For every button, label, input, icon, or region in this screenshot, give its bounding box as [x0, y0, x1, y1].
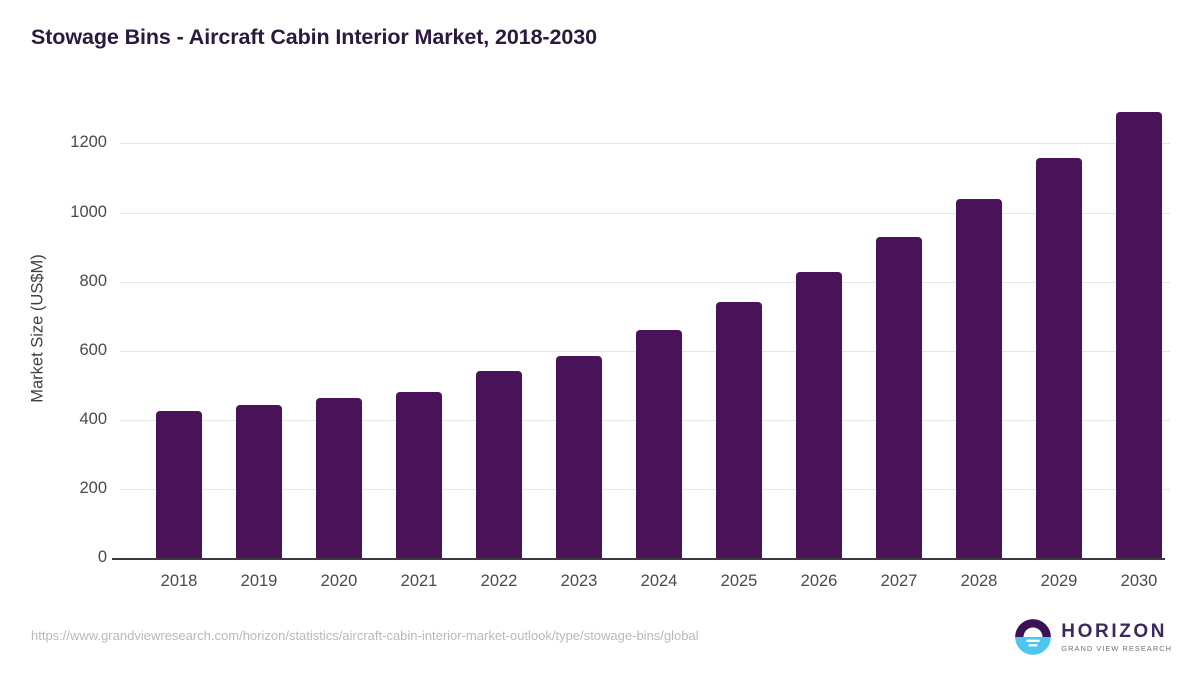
x-tick-label: 2022	[459, 572, 539, 591]
bar[interactable]	[316, 398, 362, 558]
page-title: Stowage Bins - Aircraft Cabin Interior M…	[31, 25, 597, 50]
y-tick-label: 400	[0, 410, 107, 429]
y-tick-label: 200	[0, 479, 107, 498]
x-tick-label: 2028	[939, 572, 1019, 591]
bar[interactable]	[156, 411, 202, 558]
x-tick-label: 2021	[379, 572, 459, 591]
logo-subtitle: GRAND VIEW RESEARCH	[1061, 645, 1172, 652]
bar[interactable]	[716, 302, 762, 558]
x-tick-label: 2020	[299, 572, 379, 591]
x-tick-label: 2025	[699, 572, 779, 591]
bar[interactable]	[476, 371, 522, 558]
logo-text: HORIZON GRAND VIEW RESEARCH	[1061, 622, 1172, 652]
x-tick-label: 2027	[859, 572, 939, 591]
x-tick-label: 2023	[539, 572, 619, 591]
bar[interactable]	[1116, 112, 1162, 558]
chart-page: Stowage Bins - Aircraft Cabin Interior M…	[0, 0, 1200, 675]
y-tick-label: 600	[0, 341, 107, 360]
y-tick-label: 1000	[0, 203, 107, 222]
bar[interactable]	[876, 237, 922, 558]
y-tick-label: 1200	[0, 133, 107, 152]
y-axis-title: Market Size (US$M)	[29, 179, 48, 479]
logo-wordmark: HORIZON	[1061, 622, 1172, 641]
plot-area: Market Size (US$M) 020040060080010001200…	[120, 100, 1170, 560]
y-tick-label: 800	[0, 272, 107, 291]
x-tick-label: 2018	[139, 572, 219, 591]
x-tick-label: 2029	[1019, 572, 1099, 591]
bar[interactable]	[236, 405, 282, 558]
horizon-logo: HORIZON GRAND VIEW RESEARCH	[1014, 618, 1172, 656]
x-tick-label: 2026	[779, 572, 859, 591]
bar[interactable]	[796, 272, 842, 558]
x-tick-label: 2024	[619, 572, 699, 591]
bar[interactable]	[956, 199, 1002, 558]
bar-series: 2018201920202021202220232024202520262027…	[120, 100, 1170, 560]
x-tick-label: 2030	[1099, 572, 1179, 591]
bar[interactable]	[1036, 158, 1082, 558]
horizon-sunrise-circle-icon	[1014, 618, 1052, 656]
source-url[interactable]: https://www.grandviewresearch.com/horizo…	[31, 628, 699, 643]
bar[interactable]	[636, 330, 682, 558]
bar[interactable]	[556, 356, 602, 558]
bar[interactable]	[396, 392, 442, 558]
y-tick-label: 0	[0, 548, 107, 567]
x-tick-label: 2019	[219, 572, 299, 591]
